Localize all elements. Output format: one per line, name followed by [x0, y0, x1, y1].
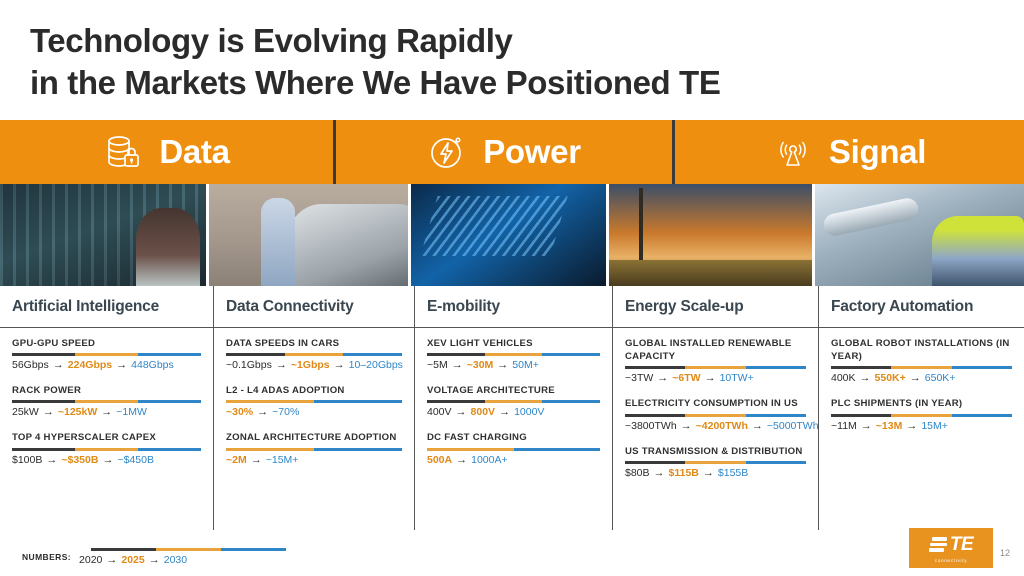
bar-segment-orange	[485, 400, 543, 403]
bar-segment-dark	[625, 366, 685, 369]
metric-value: 25kW	[12, 406, 39, 418]
logo-mark: TE	[929, 534, 973, 556]
bar-segment-orange	[485, 353, 543, 356]
metric-values: $80B→$115B→$155B	[625, 467, 806, 479]
metric-value: ~30%	[226, 406, 253, 418]
bar-segment-dark	[12, 448, 75, 451]
metric-label: VOLTAGE ARCHITECTURE	[427, 384, 600, 397]
metric-value: 1000V	[514, 406, 544, 418]
logo-tagline: connectivity	[935, 558, 967, 563]
metric-values: ~30%→~70%	[226, 406, 402, 418]
title-line-2: in the Markets Where We Have Positioned …	[30, 62, 990, 104]
photo-strip	[0, 184, 1024, 286]
column-header: Artificial Intelligence	[0, 286, 213, 328]
te-connectivity-logo: TE connectivity	[909, 528, 993, 568]
arrow-icon: →	[149, 554, 160, 566]
metric-value: $100B	[12, 454, 42, 466]
metric-value: 224Gbps	[68, 359, 112, 371]
column-factory-automation: Factory Automation GLOBAL ROBOT INSTALLA…	[818, 286, 1024, 530]
arrow-icon: →	[860, 372, 871, 384]
column-data-connectivity: Data Connectivity DATA SPEEDS IN CARS~0.…	[213, 286, 414, 530]
photo-car-interior	[411, 184, 609, 286]
metric-label: L2 - L4 ADAS ADOPTION	[226, 384, 402, 397]
metric-values: 56Gbps→224Gbps→448Gbps	[12, 359, 201, 371]
bar-segment-blue	[746, 366, 806, 369]
metric-label: ZONAL ARCHITECTURE ADOPTION	[226, 431, 402, 444]
metric-values: ~5M→~30M→50M+	[427, 359, 600, 371]
metric-value: ~$450B	[117, 454, 154, 466]
metric-value: 10–20Gbps	[349, 359, 403, 371]
metric-timeline-bar	[625, 414, 806, 417]
bar-segment-blue	[314, 400, 402, 403]
metric-values: ~11M→~13M→15M+	[831, 420, 1012, 432]
legend-bar-segment-orange	[156, 548, 221, 551]
bar-segment-orange	[75, 353, 138, 356]
arrow-icon: →	[705, 372, 716, 384]
metric-label: GLOBAL INSTALLED RENEWABLE CAPACITY	[625, 337, 806, 363]
metric-values: ~3TW→~6TW→10TW+	[625, 372, 806, 384]
metric-label: ELECTRICITY CONSUMPTION IN US	[625, 397, 806, 410]
metric-value: ~5000TWh	[767, 420, 819, 432]
category-banner: Data Power Signal	[0, 120, 1024, 184]
bar-segment-blue	[314, 448, 402, 451]
bar-segment-dark	[427, 400, 485, 403]
metric-value: 800V	[471, 406, 496, 418]
arrow-icon: →	[910, 372, 921, 384]
bar-segment-dark	[12, 400, 75, 403]
column-metrics: GLOBAL INSTALLED RENEWABLE CAPACITY~3TW→…	[625, 328, 806, 479]
metric-value: ~125kW	[58, 406, 97, 418]
arrow-icon: →	[497, 359, 508, 371]
metric-values: ~3800TWh→~4200TWh→~5000TWh	[625, 420, 806, 432]
arrow-icon: →	[106, 554, 117, 566]
bar-segment-dark	[625, 414, 685, 417]
column-metrics: GPU-GPU SPEED56Gbps→224Gbps→448GbpsRACK …	[12, 328, 201, 466]
metric: ZONAL ARCHITECTURE ADOPTION~2M→~15M+	[226, 431, 402, 465]
banner-segment-data: Data	[0, 120, 333, 184]
page-number: 12	[1000, 548, 1010, 558]
metric-value: ~15M+	[266, 454, 299, 466]
metric-timeline-bar	[427, 353, 600, 356]
metric-value: ~70%	[272, 406, 299, 418]
banner-label-power: Power	[483, 133, 581, 171]
bar-segment-orange	[891, 366, 951, 369]
arrow-icon: →	[906, 420, 917, 432]
metric-value: 15M+	[921, 420, 948, 432]
legend-value: 2030	[164, 554, 187, 566]
metric-value: 500A	[427, 454, 452, 466]
metric-value: ~30M	[467, 359, 494, 371]
bar-segment-blue	[138, 400, 201, 403]
arrow-icon: →	[102, 454, 113, 466]
metric-value: ~4200TWh	[696, 420, 748, 432]
metric: GPU-GPU SPEED56Gbps→224Gbps→448Gbps	[12, 337, 201, 371]
column-metrics: GLOBAL ROBOT INSTALLATIONS (IN YEAR)400K…	[831, 328, 1012, 432]
metric: US TRANSMISSION & DISTRIBUTION$80B→$115B…	[625, 445, 806, 479]
metric-label: RACK POWER	[12, 384, 201, 397]
metric-values: $100B→~$350B→~$450B	[12, 454, 201, 466]
legend-timeline: 2020→2025→2030	[79, 548, 286, 566]
metric-timeline-bar	[12, 400, 201, 403]
metric-value: ~5M	[427, 359, 448, 371]
arrow-icon: →	[703, 467, 714, 479]
arrow-icon: →	[861, 420, 872, 432]
metric: VOLTAGE ARCHITECTURE400V→800V→1000V	[427, 384, 600, 418]
metric-value: ~$350B	[61, 454, 98, 466]
metric-value: 400K	[831, 372, 856, 384]
arrow-icon: →	[101, 406, 112, 418]
arrow-icon: →	[657, 372, 668, 384]
bar-segment-blue	[138, 448, 201, 451]
metric-value: ~1Gbps	[291, 359, 330, 371]
legend-bar-segment-dark	[91, 548, 156, 551]
photo-data-center	[0, 184, 209, 286]
bar-segment-blue	[514, 448, 601, 451]
metric-timeline-bar	[831, 414, 1012, 417]
legend: NUMBERS: 2020→2025→2030	[22, 548, 286, 566]
arrow-icon: →	[53, 359, 64, 371]
metric-value: $155B	[718, 467, 748, 479]
bar-segment-orange	[75, 400, 138, 403]
metric-value: ~3800TWh	[625, 420, 677, 432]
arrow-icon: →	[43, 406, 54, 418]
metric-values: ~0.1Gbps→~1Gbps→10–20Gbps	[226, 359, 402, 371]
arrow-icon: →	[257, 406, 268, 418]
column-header: Data Connectivity	[214, 286, 414, 328]
metric-label: GLOBAL ROBOT INSTALLATIONS (IN YEAR)	[831, 337, 1012, 363]
arrow-icon: →	[752, 420, 763, 432]
title-line-1: Technology is Evolving Rapidly	[30, 20, 990, 62]
metric-timeline-bar	[427, 400, 600, 403]
bar-segment-dark	[427, 353, 485, 356]
metric-value: 400V	[427, 406, 452, 418]
metric-value: 650K+	[925, 372, 956, 384]
metric-values: 400K→550K+→650K+	[831, 372, 1012, 384]
metric: ELECTRICITY CONSUMPTION IN US~3800TWh→~4…	[625, 397, 806, 431]
bar-segment-blue	[343, 353, 402, 356]
arrow-icon: →	[681, 420, 692, 432]
column-metrics: DATA SPEEDS IN CARS~0.1Gbps→~1Gbps→10–20…	[226, 328, 402, 466]
bar-segment-blue	[138, 353, 201, 356]
metric-value: ~0.1Gbps	[226, 359, 272, 371]
legend-values: 2020→2025→2030	[79, 554, 286, 566]
photo-energy-wind-solar	[609, 184, 815, 286]
metric-value: ~1MW	[116, 406, 147, 418]
metric-values: 400V→800V→1000V	[427, 406, 600, 418]
logo-bars-icon	[929, 537, 947, 552]
legend-bar-segment-blue	[221, 548, 286, 551]
metric-label: TOP 4 HYPERSCALER CAPEX	[12, 431, 201, 444]
metric-values: 25kW→~125kW→~1MW	[12, 406, 201, 418]
photo-ev-charging	[209, 184, 411, 286]
antenna-signal-icon	[773, 132, 813, 172]
bar-segment-orange	[685, 461, 745, 464]
bar-segment-orange	[75, 448, 138, 451]
column-metrics: XEV LIGHT VEHICLES~5M→~30M→50M+VOLTAGE A…	[427, 328, 600, 466]
arrow-icon: →	[334, 359, 345, 371]
banner-label-data: Data	[159, 133, 229, 171]
bar-segment-orange	[285, 353, 344, 356]
metric-label: XEV LIGHT VEHICLES	[427, 337, 600, 350]
metric: DATA SPEEDS IN CARS~0.1Gbps→~1Gbps→10–20…	[226, 337, 402, 371]
metric-label: GPU-GPU SPEED	[12, 337, 201, 350]
banner-label-signal: Signal	[829, 133, 926, 171]
bar-segment-orange	[891, 414, 951, 417]
arrow-icon: →	[456, 454, 467, 466]
metric-value: $115B	[669, 467, 699, 479]
arrow-icon: →	[499, 406, 510, 418]
metric-value: 10TW+	[720, 372, 754, 384]
column-header: Energy Scale-up	[613, 286, 818, 328]
bar-segment-dark	[831, 414, 891, 417]
arrow-icon: →	[654, 467, 665, 479]
metric-timeline-bar	[831, 366, 1012, 369]
metric: GLOBAL ROBOT INSTALLATIONS (IN YEAR)400K…	[831, 337, 1012, 384]
legend-value: 2020	[79, 554, 102, 566]
metric-value: 448Gbps	[131, 359, 174, 371]
column-header: Factory Automation	[819, 286, 1024, 328]
metric: GLOBAL INSTALLED RENEWABLE CAPACITY~3TW→…	[625, 337, 806, 384]
column-e-mobility: E-mobility XEV LIGHT VEHICLES~5M→~30M→50…	[414, 286, 612, 530]
metric-values: 500A→1000A+	[427, 454, 600, 466]
bar-segment-blue	[746, 461, 806, 464]
metric-value: ~11M	[831, 420, 857, 432]
bar-segment-blue	[542, 400, 600, 403]
bar-segment-blue	[952, 366, 1012, 369]
metric-value: 550K+	[875, 372, 906, 384]
arrow-icon: →	[251, 454, 262, 466]
column-artificial-intelligence: Artificial Intelligence GPU-GPU SPEED56G…	[0, 286, 213, 530]
metric-value: 1000A+	[471, 454, 508, 466]
metric-value: ~6TW	[672, 372, 700, 384]
bar-segment-orange	[226, 400, 314, 403]
arrow-icon: →	[276, 359, 287, 371]
bar-segment-blue	[542, 353, 600, 356]
metric-value: 50M+	[512, 359, 539, 371]
database-lock-icon	[103, 132, 143, 172]
metric-timeline-bar	[625, 366, 806, 369]
metric-timeline-bar	[427, 448, 600, 451]
metric: PLC SHIPMENTS (IN YEAR)~11M→~13M→15M+	[831, 397, 1012, 431]
metric-value: ~3TW	[625, 372, 653, 384]
bar-segment-orange	[427, 448, 514, 451]
column-header: E-mobility	[415, 286, 612, 328]
metric-values: ~2M→~15M+	[226, 454, 402, 466]
bar-segment-dark	[12, 353, 75, 356]
legend-value: 2025	[121, 554, 144, 566]
page-title: Technology is Evolving Rapidly in the Ma…	[30, 20, 990, 103]
arrow-icon: →	[116, 359, 127, 371]
metric: TOP 4 HYPERSCALER CAPEX$100B→~$350B→~$45…	[12, 431, 201, 465]
arrow-icon: →	[452, 359, 463, 371]
logo-wordmark: TE	[950, 534, 973, 556]
metric-value: 56Gbps	[12, 359, 49, 371]
bar-segment-blue	[952, 414, 1012, 417]
bar-segment-blue	[746, 414, 806, 417]
bar-segment-dark	[831, 366, 891, 369]
slide-root: Technology is Evolving Rapidly in the Ma…	[0, 0, 1024, 576]
metric-timeline-bar	[226, 448, 402, 451]
metric-value: $80B	[625, 467, 650, 479]
metric-timeline-bar	[226, 400, 402, 403]
metric-timeline-bar	[226, 353, 402, 356]
arrow-icon: →	[456, 406, 467, 418]
metric: L2 - L4 ADAS ADOPTION~30%→~70%	[226, 384, 402, 418]
arrow-icon: →	[46, 454, 57, 466]
power-bolt-icon	[427, 132, 467, 172]
bar-segment-orange	[226, 448, 314, 451]
metric-value: ~2M	[226, 454, 247, 466]
metric-label: US TRANSMISSION & DISTRIBUTION	[625, 445, 806, 458]
metric: RACK POWER25kW→~125kW→~1MW	[12, 384, 201, 418]
legend-bar	[91, 548, 286, 551]
metric-label: DC FAST CHARGING	[427, 431, 600, 444]
bar-segment-orange	[685, 414, 745, 417]
photo-factory-robot	[815, 184, 1024, 286]
banner-segment-signal: Signal	[675, 120, 1024, 184]
metric-timeline-bar	[12, 448, 201, 451]
metric-timeline-bar	[625, 461, 806, 464]
metric-value: ~13M	[876, 420, 903, 432]
metric: XEV LIGHT VEHICLES~5M→~30M→50M+	[427, 337, 600, 371]
banner-segment-power: Power	[333, 120, 675, 184]
metric-label: PLC SHIPMENTS (IN YEAR)	[831, 397, 1012, 410]
legend-title: NUMBERS:	[22, 552, 71, 562]
metric: DC FAST CHARGING500A→1000A+	[427, 431, 600, 465]
market-columns: Artificial Intelligence GPU-GPU SPEED56G…	[0, 286, 1024, 530]
bar-segment-dark	[625, 461, 685, 464]
metric-label: DATA SPEEDS IN CARS	[226, 337, 402, 350]
bar-segment-orange	[685, 366, 745, 369]
metric-timeline-bar	[12, 353, 201, 356]
column-energy-scale-up: Energy Scale-up GLOBAL INSTALLED RENEWAB…	[612, 286, 818, 530]
bar-segment-dark	[226, 353, 285, 356]
